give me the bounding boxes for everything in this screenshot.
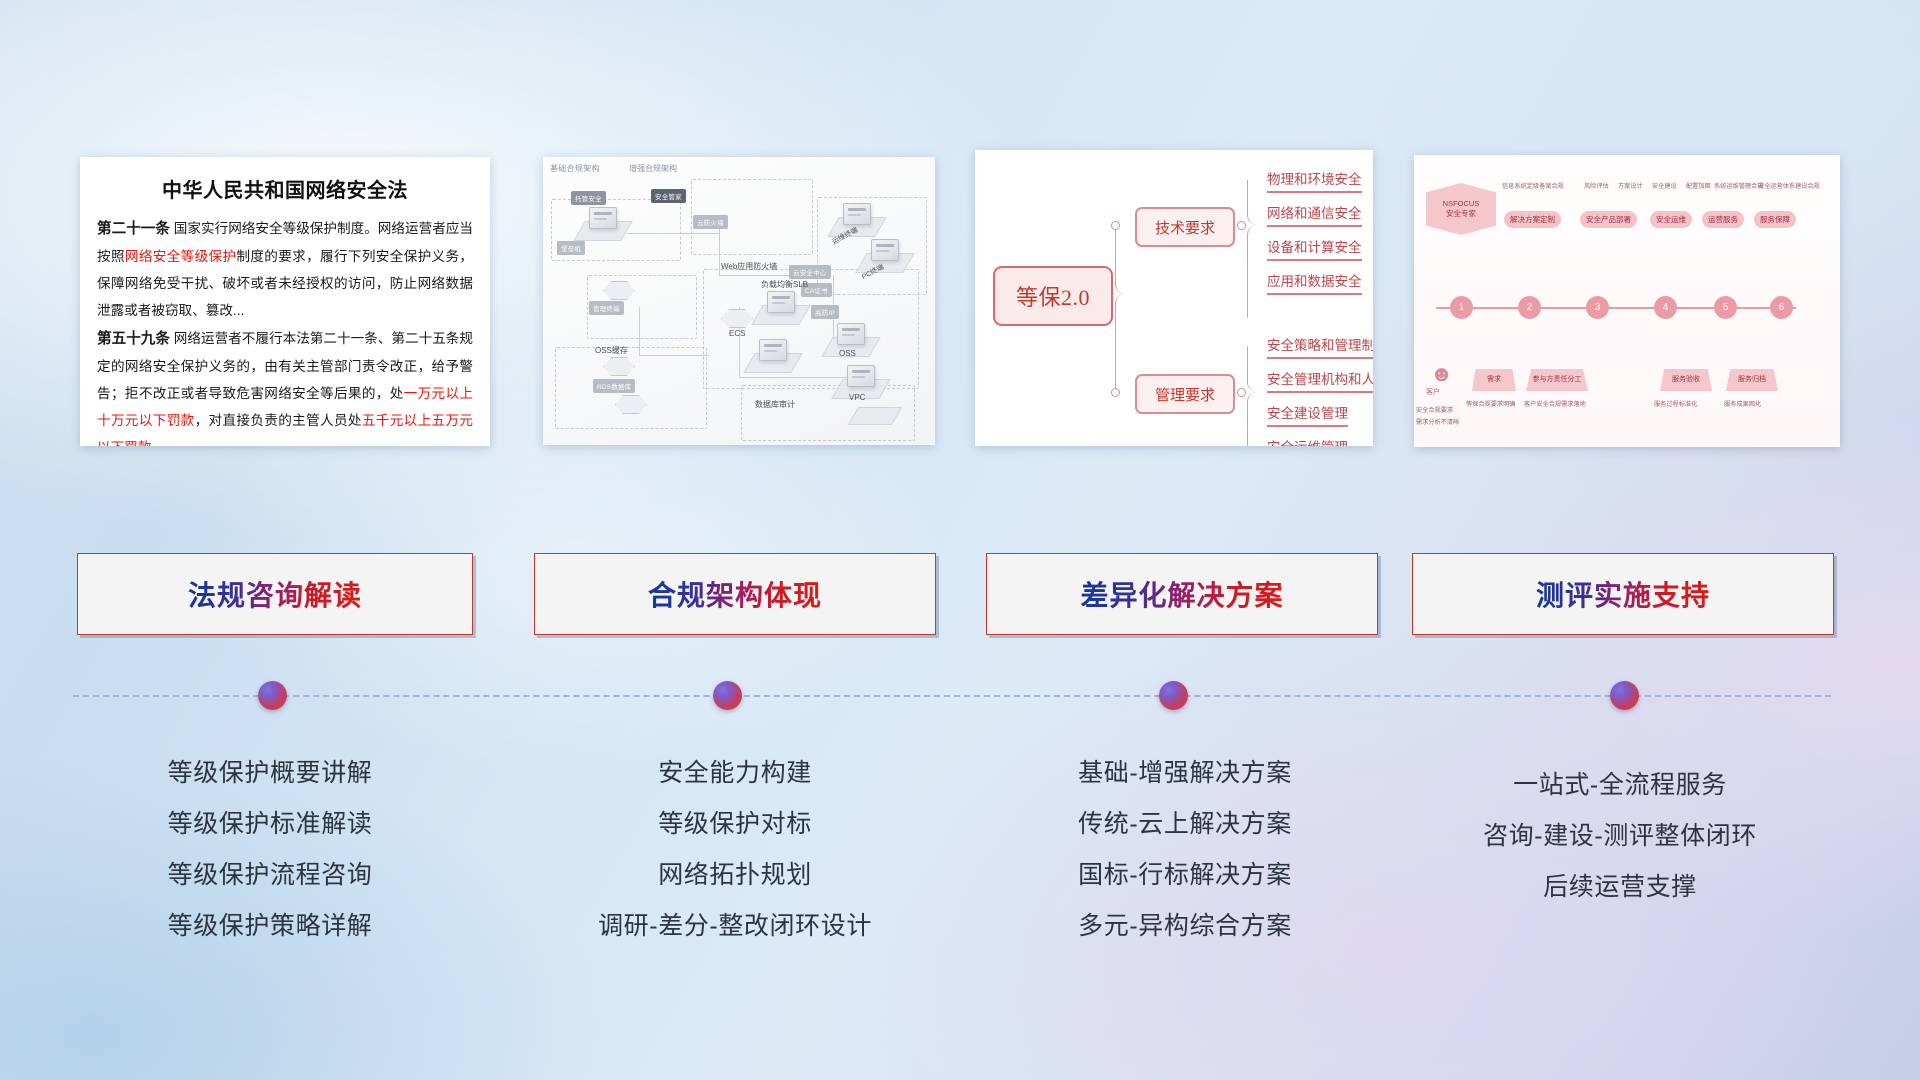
architecture-diagram: 基础合规架构 增强合规架构	[543, 157, 935, 445]
list-item: 等级保护流程咨询	[70, 850, 470, 901]
headline-compliance-architecture[interactable]: 合规架构体现	[534, 553, 936, 635]
nsfocus-chip-5: 系统运维管理合规	[1714, 181, 1764, 190]
architecture-tag-cloud-firewall: 云防火墙	[693, 215, 728, 229]
nsfocus-badge-line-2: 安全专家	[1446, 209, 1476, 219]
list-item: 传统-云上解决方案	[985, 799, 1385, 850]
list-item: 等级保护对标	[530, 799, 940, 850]
architecture-tag-cloud-security-center: 云安全中心	[789, 265, 831, 279]
architecture-node-vpc	[847, 365, 875, 387]
nsfocus-step-1: 1	[1450, 296, 1473, 319]
nsfocus-timeline-axis	[1436, 307, 1796, 309]
list-item: 安全能力构建	[530, 748, 940, 799]
mindmap-root-node: 等保2.0	[993, 266, 1113, 326]
list-item: 后续运营支撑	[1400, 862, 1840, 913]
nsfocus-bottom-pill-0: 需求	[1472, 369, 1516, 391]
nsfocus-pill-1: 安全产品部署	[1580, 211, 1637, 228]
mindmap-connector-mgmt-1	[1247, 346, 1266, 392]
mindmap-dot-tech	[1111, 221, 1120, 230]
law-article-21: 第二十一条 国家实行网络安全等级保护制度。网络运营者应当按照网络安全等级保护制度…	[97, 215, 473, 324]
column-compliance-architecture: 安全能力构建 等级保护对标 网络拓扑规划 调研-差分-整改闭环设计	[530, 748, 940, 952]
mbps-mindmap-card: 等保2.0 技术要求 管理要求 物理和环境安全 网络和通信安全 设备和计算安全 …	[975, 150, 1373, 446]
nsfocus-chip-1: 风险评估	[1584, 181, 1609, 190]
mindmap-leaf-operation: 安全运维管理	[1267, 436, 1348, 446]
mindmap-leaf-physical: 物理和环境安全	[1267, 168, 1362, 193]
architecture-node-mgmt-terminal	[843, 203, 871, 225]
headline-regulation-consulting[interactable]: 法规咨询解读	[77, 553, 473, 635]
list-item: 调研-差分-整改闭环设计	[530, 901, 940, 952]
law-article-21-number: 第二十一条	[97, 221, 170, 237]
architecture-label-vpc: VPC	[849, 393, 865, 402]
law-article-59-seg-2: ，对直接负责的主管人员处	[195, 413, 362, 428]
list-item: 基础-增强解决方案	[985, 748, 1385, 799]
nsfocus-bottom-note-0: 等保合规要求明确	[1466, 399, 1516, 408]
nsfocus-chip-4: 配置加固	[1686, 181, 1711, 190]
list-item: 等级保护策略详解	[70, 901, 470, 952]
nsfocus-step-6: 6	[1770, 296, 1793, 319]
law-article-59-number: 第五十九条	[97, 331, 170, 347]
mindmap-leaf-network: 网络和通信安全	[1267, 202, 1362, 227]
architecture-tag-web-host: 管理终端	[589, 301, 624, 315]
nsfocus-bottom-pill-3: 服务归档	[1726, 369, 1778, 391]
list-item: 咨询-建设-测评整体闭环	[1400, 811, 1840, 862]
list-item: 多元-异构综合方案	[985, 901, 1385, 952]
column-regulation-consulting: 等级保护概要讲解 等级保护标准解读 等级保护流程咨询 等级保护策略详解	[70, 748, 470, 952]
law-document-card: 中华人民共和国网络安全法 第二十一条 国家实行网络安全等级保护制度。网络运营者应…	[80, 157, 490, 446]
timeline-marker-2[interactable]	[713, 681, 742, 710]
column-differentiated-solution: 基础-增强解决方案 传统-云上解决方案 国标-行标解决方案 多元-异构综合方案	[985, 748, 1385, 952]
architecture-link-7	[639, 307, 640, 355]
architecture-node-slb	[767, 291, 795, 313]
mindmap-leaf-application: 应用和数据安全	[1267, 270, 1362, 295]
headline-assessment-support-label: 测评实施支持	[1536, 574, 1710, 614]
nsfocus-step-2: 2	[1518, 296, 1541, 319]
nsfocus-bottom-pill-2: 服务验收	[1660, 369, 1712, 391]
mindmap-leaf-device: 设备和计算安全	[1267, 236, 1362, 261]
headline-assessment-support[interactable]: 测评实施支持	[1412, 553, 1834, 635]
nsfocus-badge-line-1: NSFOCUS	[1443, 199, 1480, 209]
nsfocus-bottom-note-2: 服务过程标准化	[1654, 399, 1697, 408]
mindmap-dot-mgmt	[1111, 388, 1120, 397]
list-item: 等级保护标准解读	[70, 799, 470, 850]
headline-regulation-consulting-label: 法规咨询解读	[188, 574, 362, 614]
architecture-link-8	[639, 355, 709, 356]
mindmap-canvas: 等保2.0 技术要求 管理要求 物理和环境安全 网络和通信安全 设备和计算安全 …	[975, 150, 1373, 446]
nsfocus-step-5: 5	[1714, 296, 1737, 319]
nsfocus-bottom-pill-1: 参与方责任分工	[1526, 369, 1588, 391]
law-title: 中华人民共和国网络安全法	[97, 174, 473, 203]
architecture-node-pc-terminal	[871, 239, 899, 261]
architecture-label-db-audit: 数据库审计	[755, 399, 795, 410]
mindmap-dot-tech-hub	[1237, 221, 1246, 230]
list-item: 等级保护概要讲解	[70, 748, 470, 799]
architecture-tag-bastion: 堡垒机	[557, 241, 585, 255]
nsfocus-chip-3: 安全建设	[1652, 181, 1677, 190]
compliance-architecture-card: 基础合规架构 增强合规架构	[543, 157, 935, 445]
mindmap-connector-tech-1	[1247, 180, 1266, 225]
nsfocus-step-4: 4	[1654, 296, 1677, 319]
architecture-header-right: 增强合规架构	[629, 163, 677, 174]
nsfocus-expert-badge: NSFOCUS 安全专家	[1426, 183, 1496, 235]
mindmap-leaf-policy: 安全策略和管理制度	[1267, 334, 1373, 359]
law-article-21-seg-1: 网络安全等级保护	[125, 249, 237, 264]
list-item: 国标-行标解决方案	[985, 850, 1385, 901]
timeline-marker-4[interactable]	[1610, 681, 1639, 710]
architecture-label-oss: OSS	[839, 349, 856, 358]
law-article-59: 第五十九条 网络运营者不履行本法第二十一条、第二十五条规定的网络安全保护义务的，…	[97, 325, 473, 446]
mindmap-branch-technical: 技术要求	[1135, 207, 1235, 247]
architecture-node-ecs	[759, 339, 787, 361]
nsfocus-step-3: 3	[1586, 296, 1609, 319]
headline-differentiated-solution-label: 差异化解决方案	[1080, 574, 1283, 614]
mindmap-branch-management: 管理要求	[1135, 374, 1235, 414]
architecture-label-ecs: ECS	[729, 329, 745, 338]
architecture-label-slb: 负载均衡SLB	[761, 279, 808, 290]
timeline-marker-3[interactable]	[1159, 681, 1188, 710]
nsfocus-customer-icon: ☻	[1430, 363, 1453, 385]
list-item: 网络拓扑规划	[530, 850, 940, 901]
headline-compliance-architecture-label: 合规架构体现	[648, 574, 822, 614]
timeline-dashed-line	[73, 695, 1831, 697]
timeline-marker-1[interactable]	[258, 681, 287, 710]
architecture-node-oss	[837, 323, 865, 345]
list-item: 一站式-全流程服务	[1400, 760, 1840, 811]
nsfocus-chip-2: 方案设计	[1618, 181, 1643, 190]
architecture-label-waf: Web应用防火墙	[721, 261, 777, 272]
architecture-label-oss-cache: OSS缓存	[595, 345, 628, 356]
nsfocus-left-label-2: 需求分析不清晰	[1416, 417, 1459, 426]
nsfocus-left-label-1: 安全合规要求	[1416, 405, 1453, 414]
nsfocus-pill-2: 安全运维	[1650, 211, 1692, 228]
mindmap-connector-tech-2	[1247, 225, 1266, 318]
law-document-body: 中华人民共和国网络安全法 第二十一条 国家实行网络安全等级保护制度。网络运营者应…	[80, 157, 490, 446]
architecture-tag-managed-security: 托管安全	[571, 191, 606, 205]
architecture-tag-anti-ddos: 高防IP	[811, 305, 839, 319]
architecture-node-waf	[589, 207, 617, 229]
architecture-tag-security-manager: 安全管家	[651, 189, 686, 203]
mindmap-connector-root-tech	[1115, 225, 1134, 294]
architecture-tag-rds: RDS数据库	[593, 379, 635, 393]
mindmap-connector-mgmt-2	[1247, 392, 1266, 446]
mindmap-leaf-construction: 安全建设管理	[1267, 402, 1348, 427]
mindmap-leaf-org: 安全管理机构和人员	[1267, 368, 1373, 393]
nsfocus-timeline-canvas: NSFOCUS 安全专家 信息系统定级备案合规 风险评估 方案设计 安全建设 配…	[1414, 155, 1840, 447]
mindmap-connector-root-mgmt	[1115, 294, 1134, 392]
column-assessment-support: 一站式-全流程服务 咨询-建设-测评整体闭环 后续运营支撑	[1400, 760, 1840, 913]
mindmap-dot-mgmt-hub	[1237, 388, 1246, 397]
nsfocus-pill-3: 运营服务	[1702, 211, 1744, 228]
nsfocus-bottom-note-1: 客户安全合规需求落地	[1524, 399, 1586, 408]
nsfocus-service-timeline-card: NSFOCUS 安全专家 信息系统定级备案合规 风险评估 方案设计 安全建设 配…	[1414, 155, 1840, 447]
nsfocus-pill-0: 解决方案定制	[1504, 211, 1561, 228]
nsfocus-chip-0: 信息系统定级备案合规	[1502, 181, 1564, 190]
architecture-header-left: 基础合规架构	[550, 163, 600, 174]
nsfocus-left-label-0: 客户	[1426, 387, 1440, 397]
architecture-link-1	[627, 233, 719, 234]
nsfocus-chip-6: 安全运营体系建设合规	[1758, 181, 1820, 190]
headline-differentiated-solution[interactable]: 差异化解决方案	[986, 553, 1378, 635]
nsfocus-pill-4: 服务保障	[1754, 211, 1796, 228]
nsfocus-bottom-note-3: 服务成果固化	[1724, 399, 1761, 408]
